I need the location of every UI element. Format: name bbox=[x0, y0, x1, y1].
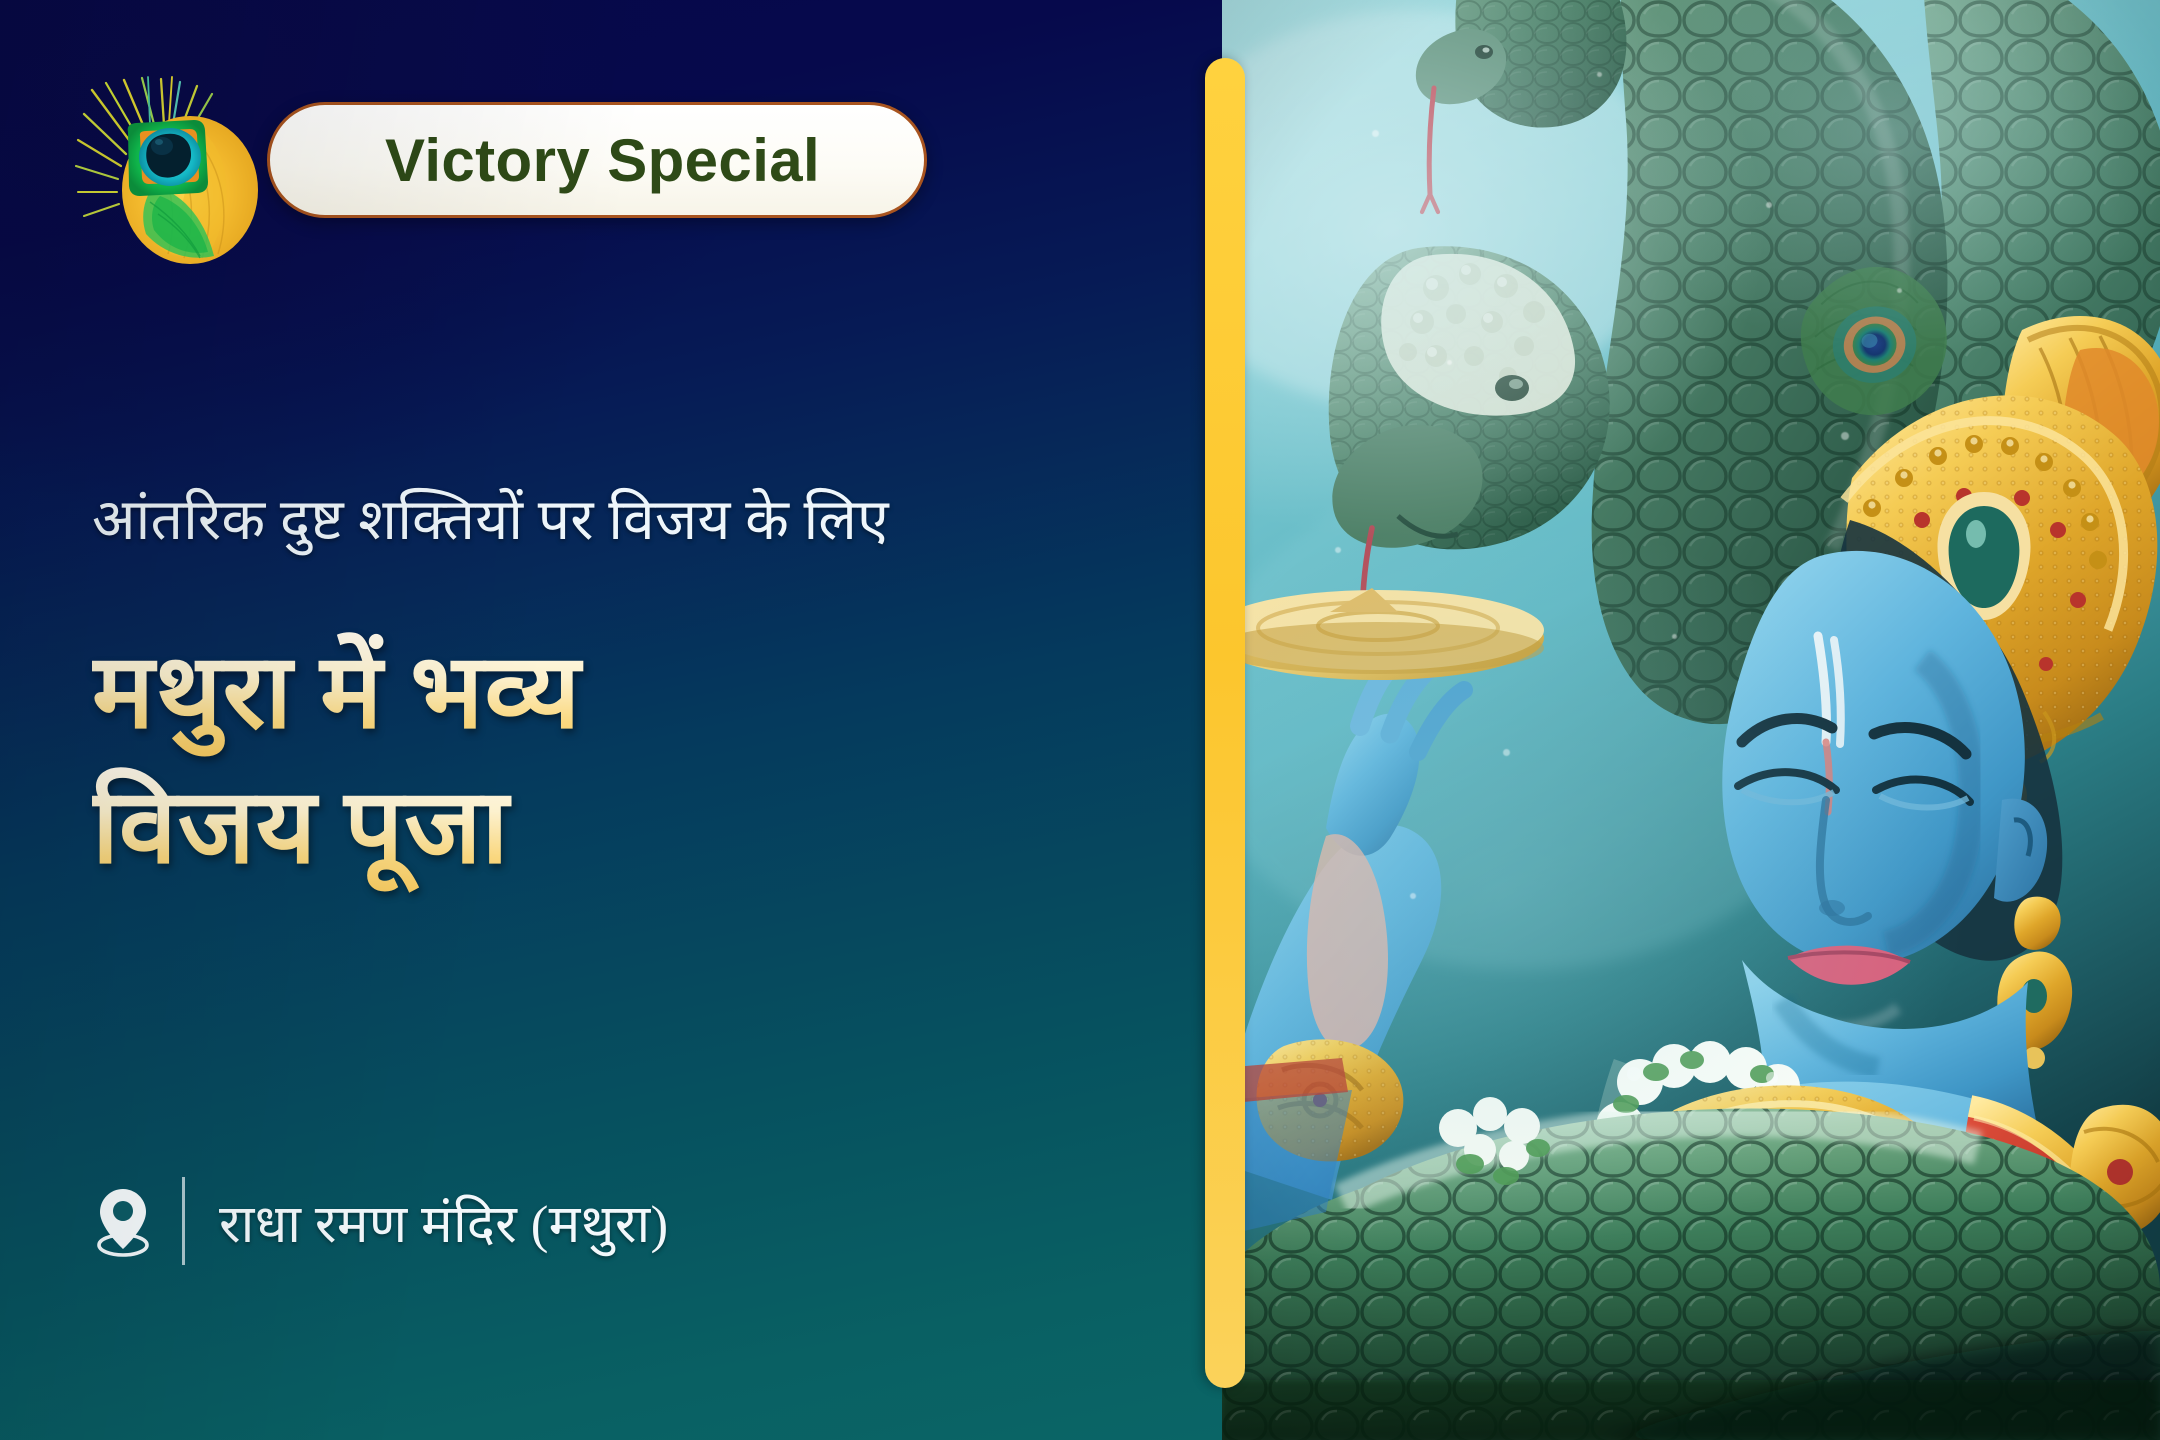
peacock-feather-icon bbox=[62, 74, 292, 264]
location-name: राधा रमण मंदिर (मथुरा) bbox=[219, 1185, 668, 1258]
location-divider bbox=[182, 1177, 185, 1265]
headline: मथुरा में भव्य विजय पूजा bbox=[92, 625, 1152, 895]
vertical-accent-divider bbox=[1205, 58, 1245, 1388]
image-vignette bbox=[1222, 0, 2160, 1440]
headline-line-2: विजय पूजा bbox=[92, 760, 1152, 895]
left-content-panel: Victory Special bbox=[0, 0, 1222, 1440]
badge-label: Victory Special bbox=[385, 126, 820, 195]
deity-artwork-panel bbox=[1222, 0, 2160, 1440]
subtitle-text: आंतरिक दुष्ट शक्तियों पर विजय के लिए bbox=[92, 487, 1102, 554]
headline-line-1: मथुरा में भव्य bbox=[92, 625, 1152, 760]
location-block: राधा रमण मंदिर (मथुरा) bbox=[92, 1175, 668, 1267]
victory-special-badge[interactable]: Victory Special bbox=[62, 74, 872, 244]
map-pin-icon bbox=[92, 1185, 154, 1257]
badge-pill[interactable]: Victory Special bbox=[267, 102, 927, 218]
promotional-poster: Victory Special bbox=[0, 0, 2160, 1440]
